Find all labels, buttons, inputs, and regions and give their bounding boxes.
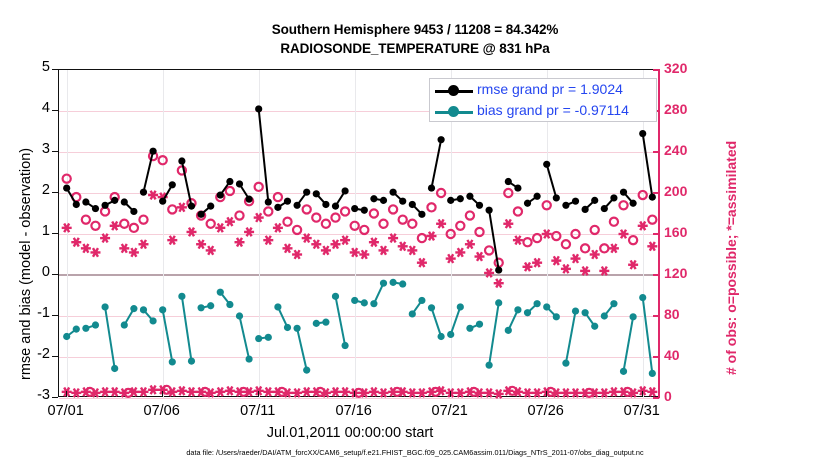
legend-marker-bias	[448, 106, 459, 117]
x-tick-label-1: 07/06	[127, 403, 197, 419]
rmse-point	[457, 195, 464, 202]
rmse-point	[245, 196, 252, 203]
x-tick-label-2: 07/11	[223, 403, 293, 419]
rmse-point	[418, 211, 425, 218]
x-tick-mark-4	[450, 391, 451, 397]
chart-title-line1: Southern Hemisphere 9453 / 11208 = 84.34…	[0, 22, 830, 37]
x-tick-label-5: 07/26	[511, 403, 581, 419]
rmse-point	[159, 198, 166, 205]
rmse-point	[534, 193, 541, 200]
chart-title-line2: RADIOSONDE_TEMPERATURE @ 831 hPa	[0, 41, 830, 56]
rmse-point	[524, 200, 531, 207]
right-tick-mark-6	[653, 315, 659, 317]
rmse-point	[313, 190, 320, 197]
rmse-point	[514, 184, 521, 191]
rmse-point	[207, 203, 214, 210]
rmse-segment	[143, 151, 153, 192]
right-tick-label-3: 200	[664, 183, 710, 199]
rmse-point	[284, 198, 291, 205]
rmse-point	[447, 197, 454, 204]
rmse-point	[293, 202, 300, 209]
rmse-point	[130, 208, 137, 215]
right-tick-label-6: 80	[664, 306, 710, 322]
rmse-point	[73, 201, 80, 208]
rmse-point	[399, 198, 406, 205]
rmse-segment	[643, 134, 653, 198]
rmse-point	[380, 197, 387, 204]
rmse-point	[543, 161, 550, 168]
y-tick-mark-5	[52, 274, 58, 275]
legend-item-rmse[interactable]: rmse grand pr = 1.9024	[430, 80, 658, 102]
rmse-point	[82, 198, 89, 205]
y-tick-mark-2	[52, 151, 58, 152]
rmse-point	[591, 197, 598, 204]
rmse-point	[562, 202, 569, 209]
rmse-point	[438, 136, 445, 143]
rmse-point	[495, 266, 502, 273]
rmse-segment	[259, 109, 269, 202]
rmse-point	[476, 202, 483, 209]
rmse-point	[169, 181, 176, 188]
rmse-segment	[547, 164, 557, 198]
rmse-point	[92, 205, 99, 212]
right-tick-mark-2	[653, 151, 659, 153]
rmse-point	[274, 204, 281, 211]
rmse-segment	[432, 140, 442, 188]
x-tick-label-0: 07/01	[31, 403, 101, 419]
right-tick-mark-0	[653, 69, 659, 71]
rmse-point	[639, 130, 646, 137]
x-axis-label: Jul.01,2011 00:00:00 start	[0, 425, 700, 441]
rmse-point	[361, 207, 368, 214]
y-tick-label-1: 4	[6, 100, 50, 116]
rmse-point	[409, 201, 416, 208]
rmse-point	[332, 203, 339, 210]
rmse-point	[111, 197, 118, 204]
rmse-point	[303, 189, 310, 196]
right-tick-mark-3	[653, 192, 659, 194]
rmse-point	[572, 198, 579, 205]
right-tick-mark-7	[653, 356, 659, 358]
rmse-point	[121, 198, 128, 205]
right-tick-label-5: 120	[664, 265, 710, 281]
right-tick-label-8: 0	[664, 388, 710, 404]
chart-legend[interactable]: rmse grand pr = 1.9024 bias grand pr = -…	[429, 78, 657, 122]
y-tick-mark-4	[52, 233, 58, 234]
gridline-h	[59, 398, 660, 399]
rmse-point	[428, 184, 435, 191]
right-tick-label-2: 240	[664, 142, 710, 158]
data-file-footer: data file: /Users/raeder/DAI/ATM_forcXX/…	[0, 448, 830, 457]
right-tick-label-1: 280	[664, 101, 710, 117]
y-tick-mark-8	[52, 397, 58, 398]
rmse-point	[505, 178, 512, 185]
x-tick-mark-0	[66, 391, 67, 397]
right-tick-mark-8	[653, 397, 659, 399]
x-tick-mark-6	[642, 391, 643, 397]
x-tick-mark-1	[162, 391, 163, 397]
rmse-point	[226, 178, 233, 185]
chart-root: Southern Hemisphere 9453 / 11208 = 84.34…	[0, 0, 830, 470]
rmse-segment	[182, 161, 192, 206]
right-tick-label-4: 160	[664, 224, 710, 240]
rmse-point	[351, 205, 358, 212]
y-tick-mark-0	[52, 69, 58, 70]
y-tick-mark-3	[52, 192, 58, 193]
rmse-point	[188, 203, 195, 210]
x-tick-mark-5	[546, 391, 547, 397]
rmse-point	[390, 189, 397, 196]
rmse-point	[140, 189, 147, 196]
right-tick-mark-5	[653, 274, 659, 276]
rmse-point	[149, 148, 156, 155]
rmse-point	[582, 206, 589, 213]
rmse-point	[217, 191, 224, 198]
rmse-point	[610, 194, 617, 201]
rmse-point	[63, 184, 70, 191]
rmse-point	[601, 205, 608, 212]
legend-label-rmse: rmse grand pr = 1.9024	[477, 81, 623, 97]
right-tick-mark-4	[653, 233, 659, 235]
y-axis-label: rmse and bias (model - observation)	[18, 148, 34, 380]
rmse-point	[101, 202, 108, 209]
rmse-point	[630, 200, 637, 207]
x-tick-label-4: 07/21	[415, 403, 485, 419]
legend-label-bias: bias grand pr = -0.97114	[477, 102, 629, 118]
legend-item-bias[interactable]: bias grand pr = -0.97114	[430, 101, 658, 123]
rmse-point	[178, 157, 185, 164]
right-tick-label-0: 320	[664, 60, 710, 76]
rmse-point	[341, 187, 348, 194]
x-tick-mark-3	[354, 391, 355, 397]
right-y-axis-label: # of obs: o=possible; *=assimilated	[723, 141, 739, 375]
rmse-point	[236, 180, 243, 187]
rmse-point	[486, 207, 493, 214]
rmse-point	[322, 201, 329, 208]
legend-marker-rmse	[448, 85, 459, 96]
y-tick-mark-1	[52, 110, 58, 111]
y-tick-mark-7	[52, 356, 58, 357]
y-tick-label-0: 5	[6, 59, 50, 75]
rmse-point	[197, 211, 204, 218]
right-tick-label-7: 40	[664, 347, 710, 363]
y-tick-mark-6	[52, 315, 58, 316]
rmse-point	[466, 193, 473, 200]
rmse-point	[553, 194, 560, 201]
x-tick-mark-2	[258, 391, 259, 397]
y-tick-label-8: -3	[6, 387, 50, 403]
x-tick-label-6: 07/31	[607, 403, 677, 419]
rmse-point	[620, 189, 627, 196]
x-tick-label-3: 07/16	[319, 403, 389, 419]
rmse-segment	[489, 210, 499, 270]
rmse-point	[265, 198, 272, 205]
rmse-point	[649, 194, 656, 201]
rmse-point	[370, 195, 377, 202]
rmse-point	[255, 105, 262, 112]
